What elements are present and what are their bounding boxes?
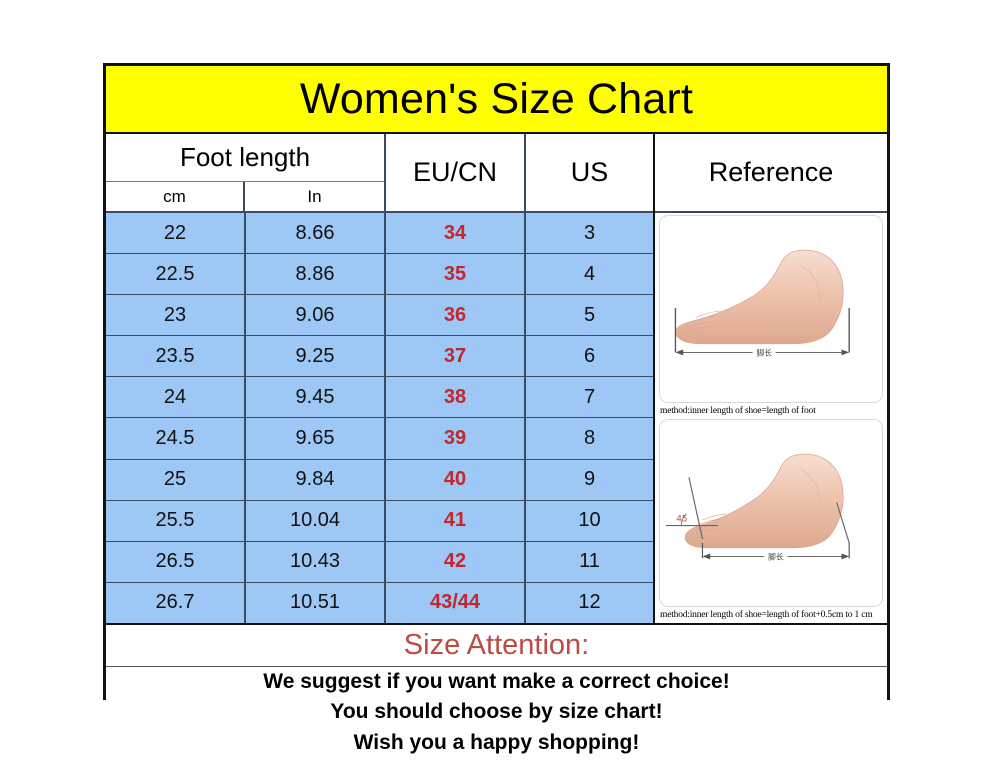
eu-cn-header: EU/CN [386,134,526,211]
inch-cell: 9.06 [246,295,386,335]
inch-cell: 8.86 [246,254,386,294]
us-cell: 8 [526,418,653,458]
reference-header: Reference [655,134,887,213]
cm-cell: 24 [106,377,246,417]
table-row: 259.84409 [106,460,653,501]
inch-header: In [245,182,384,211]
measurement-columns: Foot length cm In EU/CN US 228.6634322.5… [106,134,655,623]
us-cell: 12 [526,583,653,623]
us-cell: 5 [526,295,653,335]
foot-measurement-card-1: 脚长 [659,215,883,403]
table-body: 228.6634322.58.86354239.0636523.59.25376… [106,213,653,623]
foot-length-header: Foot length [106,134,384,182]
table-row: 23.59.25376 [106,336,653,377]
advice-line: We suggest if you want make a correct ch… [263,667,729,697]
eu-cn-cell: 34 [386,213,526,253]
inch-cell: 9.84 [246,460,386,500]
advice-line: Wish you a happy shopping! [354,728,640,758]
eu-cn-cell: 35 [386,254,526,294]
foot-length-header-group: Foot length cm In [106,134,386,211]
inch-cell: 10.04 [246,501,386,541]
cm-cell: 22.5 [106,254,246,294]
us-cell: 11 [526,542,653,582]
reference-item-2: 45 脚长 method:inner length [659,419,883,623]
cm-cell: 23 [106,295,246,335]
reference-item-1: 脚长 method:inner length of shoe=length of… [659,215,883,419]
cm-cell: 23.5 [106,336,246,376]
foot-measurement-card-2: 45 脚长 [659,419,883,607]
inch-cell: 9.25 [246,336,386,376]
eu-cn-cell: 41 [386,501,526,541]
inch-cell: 8.66 [246,213,386,253]
eu-cn-cell: 39 [386,418,526,458]
cm-header: cm [106,182,245,211]
eu-cn-cell: 37 [386,336,526,376]
size-chart-page: Women's Size Chart Foot length cm In EU/… [0,0,984,762]
table-row: 239.06365 [106,295,653,336]
table-row: 26.710.5143/4412 [106,583,653,623]
table-header-row: Foot length cm In EU/CN US [106,134,653,213]
cm-cell: 24.5 [106,418,246,458]
cm-cell: 25.5 [106,501,246,541]
reference-column: Reference [655,134,887,623]
table-row: 25.510.044110 [106,501,653,542]
size-attention-advice: We suggest if you want make a correct ch… [106,667,887,762]
size-attention-heading: Size Attention: [404,629,589,662]
page-title: Women's Size Chart [300,75,693,124]
us-cell: 9 [526,460,653,500]
cm-cell: 25 [106,460,246,500]
cm-cell: 22 [106,213,246,253]
eu-cn-cell: 42 [386,542,526,582]
foot-diagram-flat-icon: 脚长 [660,216,882,402]
inch-cell: 10.51 [246,583,386,623]
unit-header-row: cm In [106,182,384,211]
chart-title-banner: Women's Size Chart [106,66,887,134]
table-row: 249.45387 [106,377,653,418]
us-cell: 10 [526,501,653,541]
inch-cell: 9.65 [246,418,386,458]
table-row: 228.66343 [106,213,653,254]
eu-cn-cell: 38 [386,377,526,417]
foot-diagram-angled-icon: 45 脚长 [660,420,882,606]
chart-grid: Foot length cm In EU/CN US 228.6634322.5… [106,134,887,623]
us-cell: 3 [526,213,653,253]
eu-cn-cell: 43/44 [386,583,526,623]
svg-text:脚长: 脚长 [757,347,773,357]
reference-caption-2: method:inner length of shoe=length of fo… [659,607,883,623]
cm-cell: 26.7 [106,583,246,623]
inch-cell: 9.45 [246,377,386,417]
advice-line: You should choose by size chart! [330,697,662,727]
eu-cn-cell: 40 [386,460,526,500]
eu-cn-cell: 36 [386,295,526,335]
us-cell: 4 [526,254,653,294]
svg-text:45: 45 [676,515,687,525]
reference-images: 脚长 method:inner length of shoe=length of… [655,213,887,623]
cm-cell: 26.5 [106,542,246,582]
svg-text:脚长: 脚长 [768,551,784,561]
inch-cell: 10.43 [246,542,386,582]
us-header: US [526,134,653,211]
reference-caption-1: method:inner length of shoe=length of fo… [659,403,883,419]
size-chart-table: Women's Size Chart Foot length cm In EU/… [103,63,890,700]
us-cell: 6 [526,336,653,376]
table-row: 22.58.86354 [106,254,653,295]
table-row: 24.59.65398 [106,418,653,459]
size-attention-heading-row: Size Attention: [106,623,887,667]
table-row: 26.510.434211 [106,542,653,583]
us-cell: 7 [526,377,653,417]
